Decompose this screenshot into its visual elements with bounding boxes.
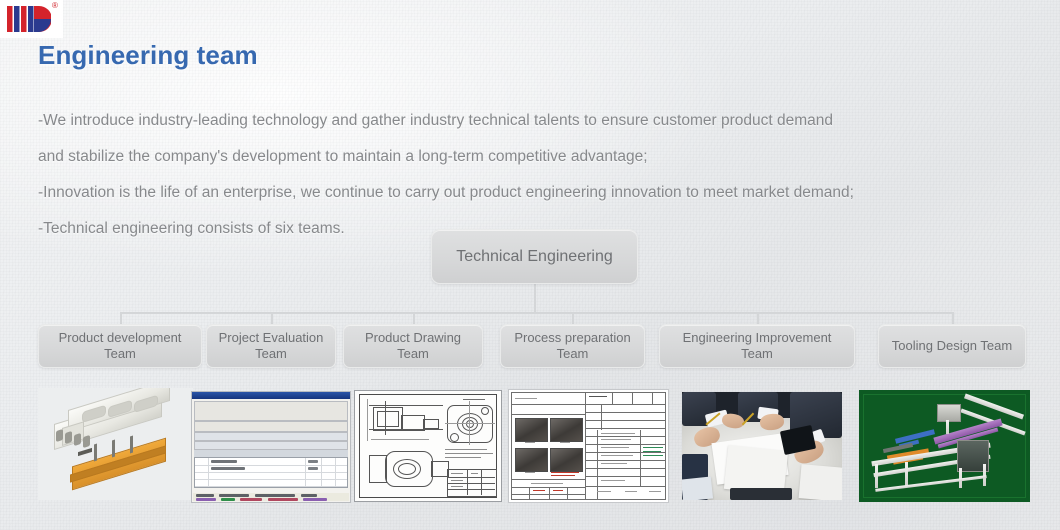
process-preparation-work-instruction xyxy=(509,390,668,502)
connector-drop-6 xyxy=(952,312,954,324)
org-chart: Technical Engineering Product developmen… xyxy=(0,225,1060,375)
connector-drop-1 xyxy=(120,312,122,324)
org-node-product-development-team[interactable]: Product development Team xyxy=(38,324,202,368)
org-node-tooling-design-team[interactable]: Tooling Design Team xyxy=(878,324,1026,368)
connector-horizontal-bus xyxy=(120,312,953,314)
org-node-project-evaluation-team[interactable]: Project Evaluation Team xyxy=(206,324,336,368)
org-node-engineering-improvement-team[interactable]: Engineering Improvement Team xyxy=(659,324,855,368)
connector-drop-2 xyxy=(271,312,273,324)
body-line-1: -We introduce industry-leading technolog… xyxy=(38,103,1028,139)
org-node-process-preparation-team[interactable]: Process preparation Team xyxy=(500,324,645,368)
body-line-3: -Innovation is the life of an enterprise… xyxy=(38,175,1028,211)
thumbnail-strip xyxy=(0,386,1060,506)
connector-drop-3 xyxy=(413,312,415,324)
logo-mark-icon xyxy=(6,5,51,33)
product-development-render xyxy=(38,388,193,500)
page-title: Engineering team xyxy=(38,40,258,71)
org-node-technical-engineering[interactable]: Technical Engineering xyxy=(431,229,638,284)
org-node-product-drawing-team[interactable]: Product Drawing Team xyxy=(343,324,483,368)
slide-canvas: ® Engineering team -We introduce industr… xyxy=(0,0,1060,530)
connector-root-stem xyxy=(534,284,536,313)
engineering-improvement-meeting-photo xyxy=(682,392,842,500)
project-evaluation-erp-screenshot xyxy=(192,392,350,502)
product-drawing-cad-sheet xyxy=(355,391,501,501)
connector-drop-5 xyxy=(757,312,759,324)
connector-drop-4 xyxy=(572,312,574,324)
registered-trademark-icon: ® xyxy=(52,2,58,10)
company-logo: ® xyxy=(0,0,63,38)
body-line-2: and stabilize the company's development … xyxy=(38,139,1028,175)
tooling-design-machine-render xyxy=(859,390,1030,502)
